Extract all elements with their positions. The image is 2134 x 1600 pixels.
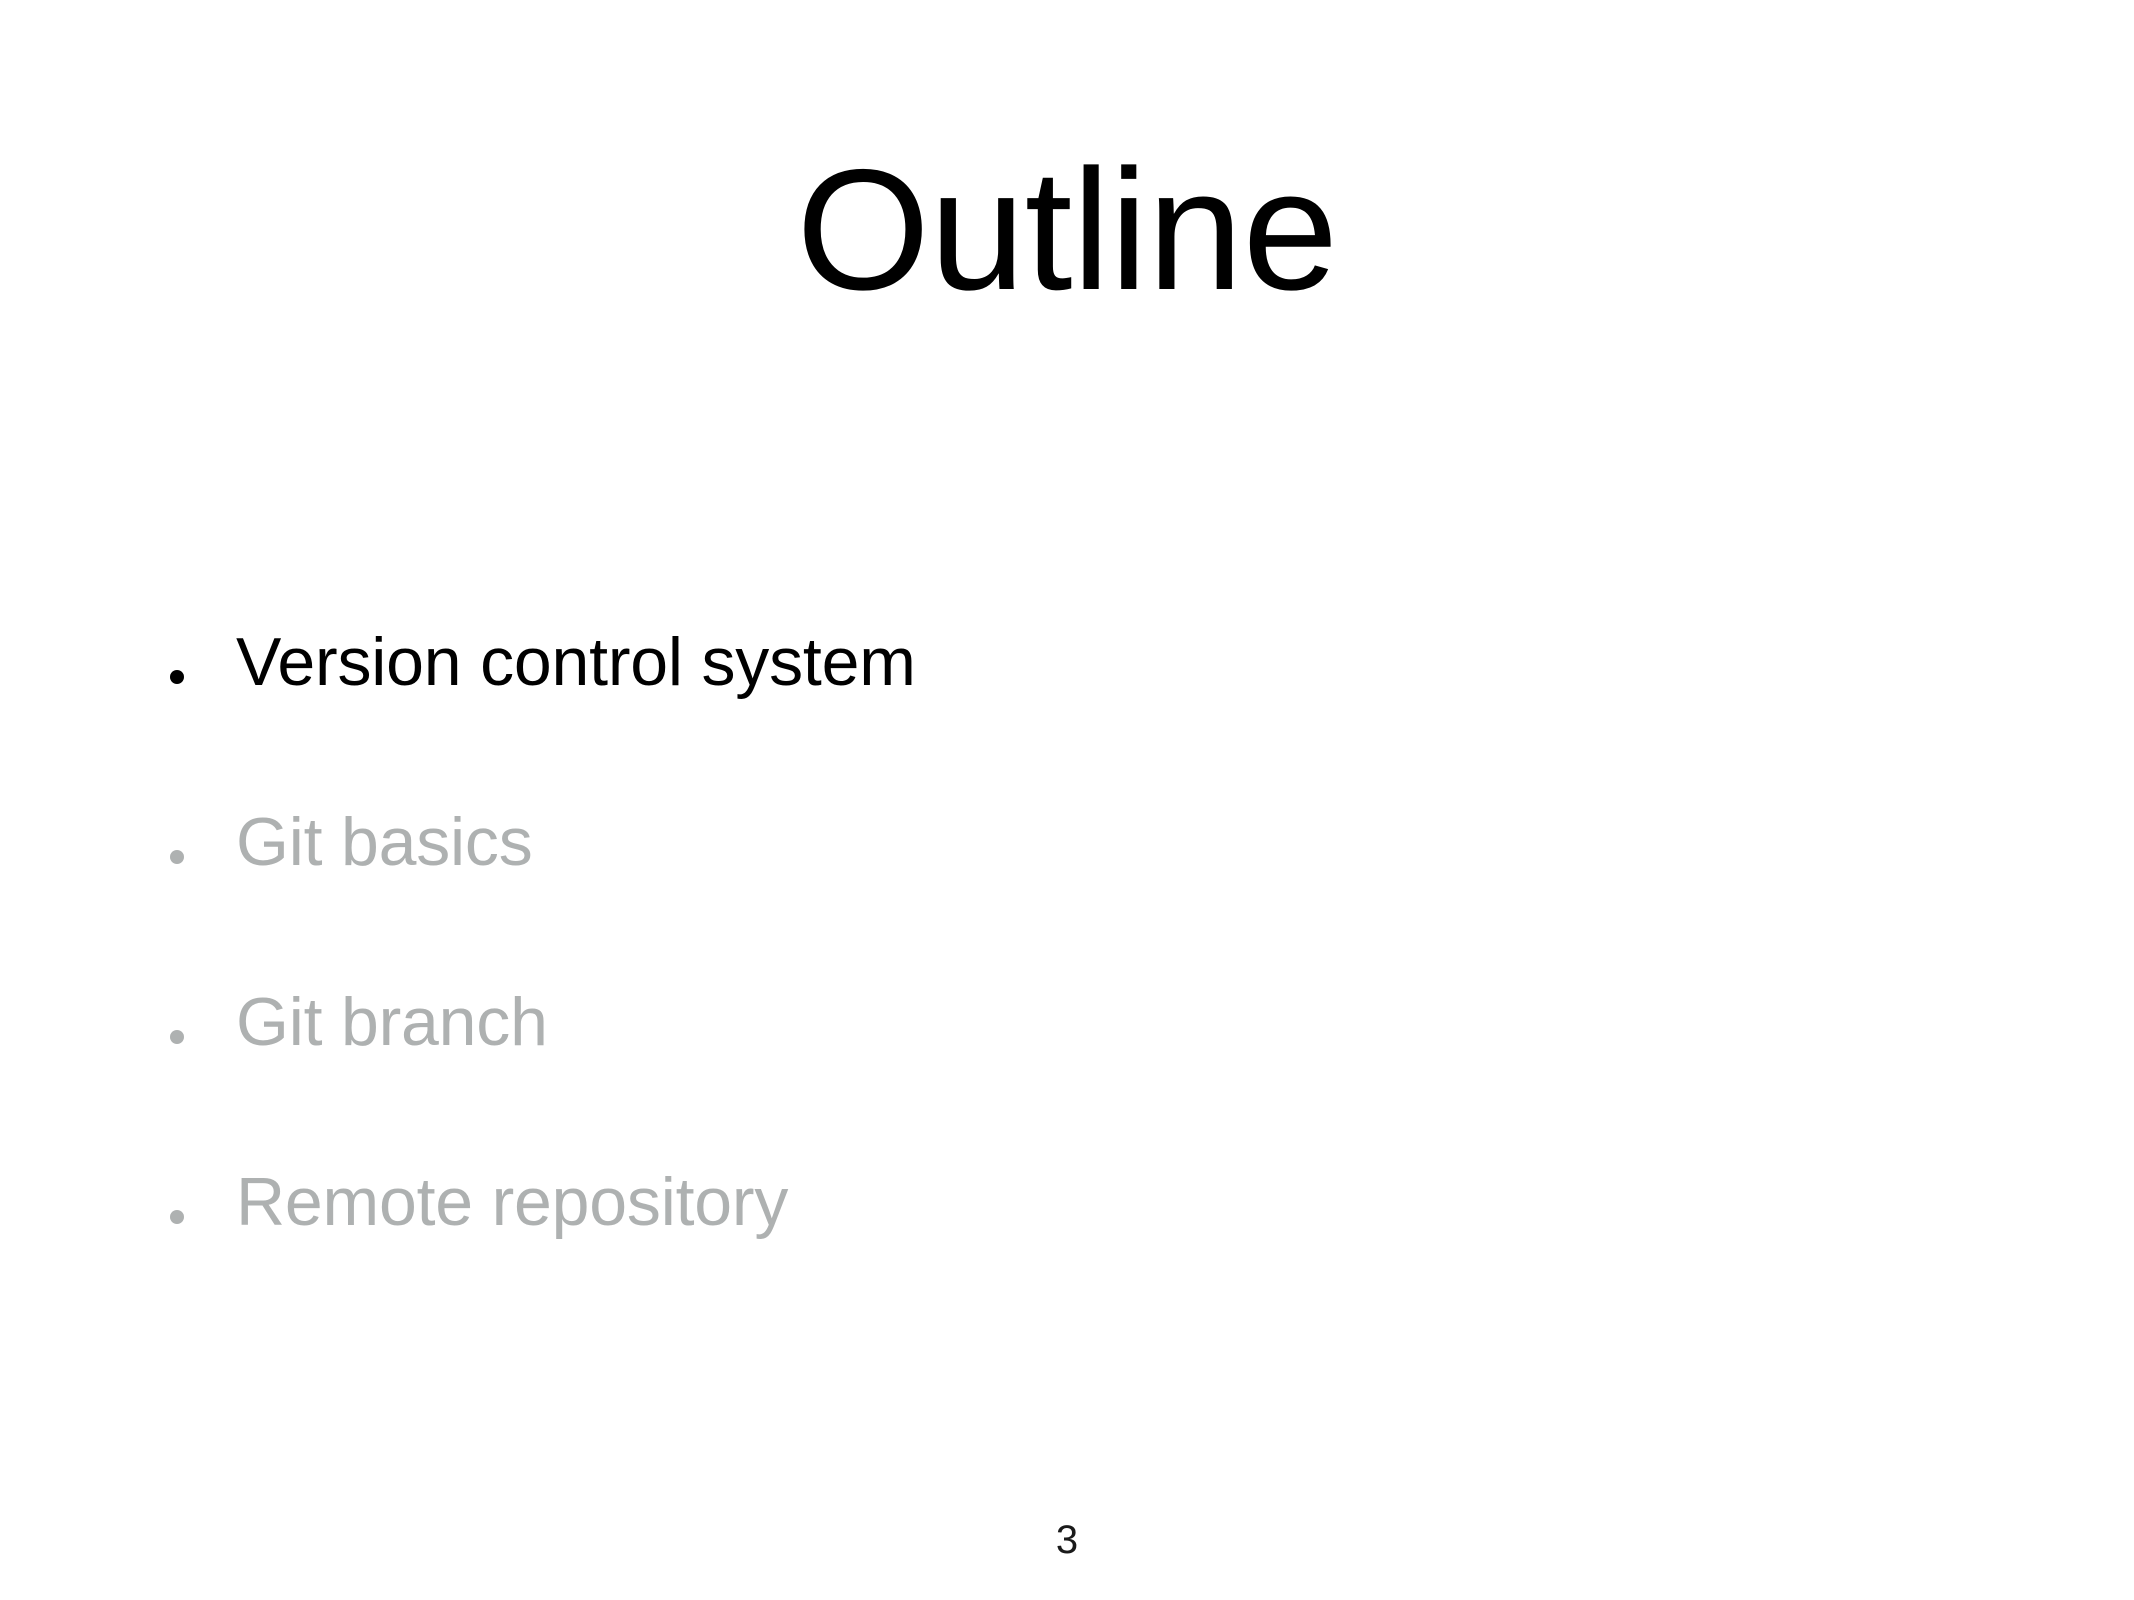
outline-item-label: Version control system (236, 628, 916, 696)
bullet-dot-icon (170, 1210, 184, 1224)
bullet-dot-icon (170, 670, 184, 684)
outline-list: Version control system Git basics Git br… (160, 628, 1860, 1348)
presentation-slide: Outline Version control system Git basic… (0, 0, 2134, 1600)
outline-item-label: Git basics (236, 808, 533, 876)
bullet-dot-icon (170, 850, 184, 864)
outline-item-label: Git branch (236, 988, 548, 1056)
list-item[interactable]: Remote repository (160, 1168, 1860, 1348)
page-title: Outline (0, 140, 2134, 321)
page-number: 3 (0, 1518, 2134, 1563)
outline-item-label: Remote repository (236, 1168, 788, 1236)
bullet-dot-icon (170, 1030, 184, 1044)
list-item[interactable]: Version control system (160, 628, 1860, 808)
list-item[interactable]: Git basics (160, 808, 1860, 988)
list-item[interactable]: Git branch (160, 988, 1860, 1168)
